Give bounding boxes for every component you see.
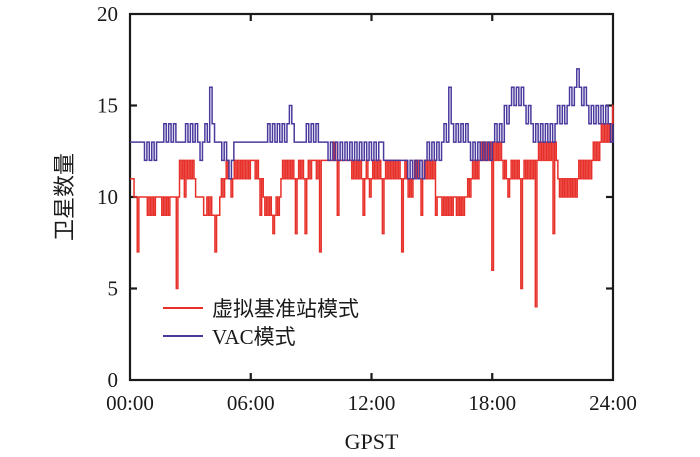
figure-background <box>0 0 700 457</box>
chart-figure: 05101520 00:0006:0012:0018:0024:00 虚拟基准站… <box>0 0 700 457</box>
x-axis-title: GPST <box>345 429 399 454</box>
x-tick-label: 18:00 <box>468 391 516 415</box>
x-tick-label: 12:00 <box>348 391 396 415</box>
y-tick-label: 10 <box>97 185 118 209</box>
legend-label-vac-mode: VAC模式 <box>212 325 296 349</box>
y-tick-label: 15 <box>97 94 118 118</box>
legend-label-virtual-reference-station-mode: 虚拟基准站模式 <box>212 297 359 321</box>
y-tick-label: 20 <box>97 2 118 26</box>
x-tick-label: 06:00 <box>227 391 275 415</box>
y-tick-label: 5 <box>108 277 119 301</box>
chart-svg: 05101520 00:0006:0012:0018:0024:00 虚拟基准站… <box>0 0 700 457</box>
y-tick-label: 0 <box>108 368 119 392</box>
y-axis-title: 卫星数量 <box>52 153 77 241</box>
x-tick-label: 24:00 <box>589 391 637 415</box>
x-tick-label: 00:00 <box>106 391 154 415</box>
